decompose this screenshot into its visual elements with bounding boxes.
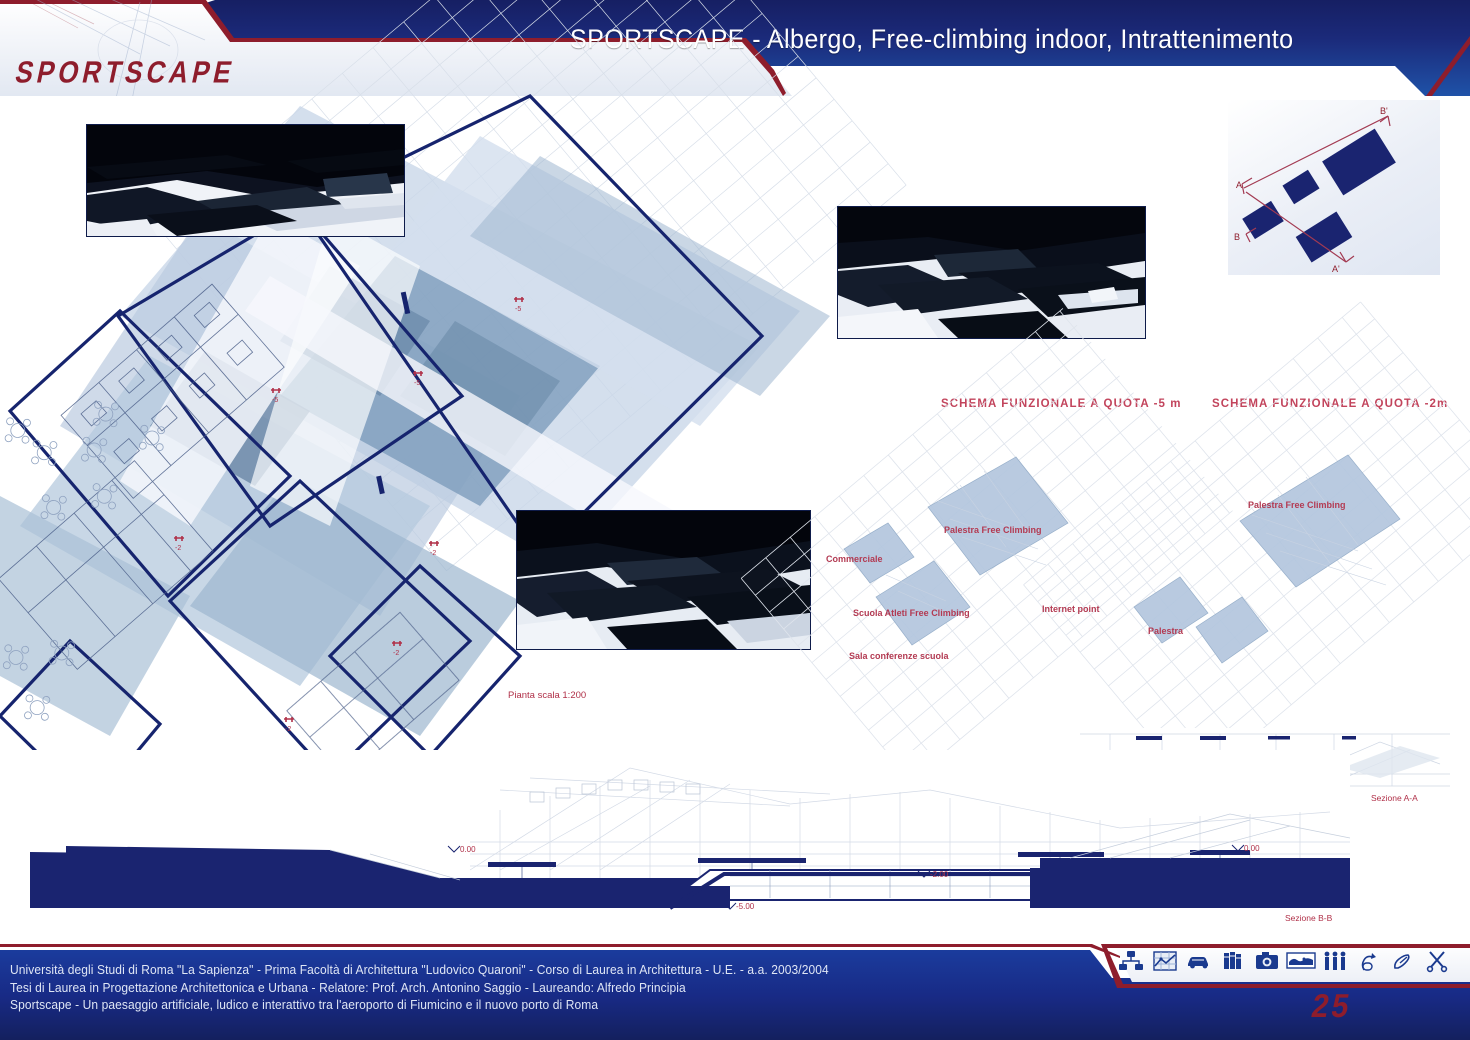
board-footer: Università degli Studi di Roma "La Sapie…: [0, 944, 1470, 1040]
schema2-label-palestra-free-climbing: Palestra Free Climbing: [1248, 500, 1346, 510]
svg-text:-2: -2: [175, 545, 181, 552]
schema2-block-palestra: [1196, 597, 1268, 663]
section-a-a-label: Sezione A-A: [1371, 793, 1418, 803]
schema-block-scuola: [876, 561, 970, 645]
plan-scale-label: Pianta scala 1:200: [508, 690, 586, 701]
section-ground-band: [30, 846, 1350, 908]
presentation-board: SPORTSCAPE SPORTSCAPE - Albergo, Free-cl…: [0, 0, 1470, 1040]
svg-text:-5: -5: [272, 397, 278, 404]
footer-icon-bar: [1118, 948, 1449, 973]
schema-title-quota-5: SCHEMA FUNZIONALE A QUOTA -5 m: [941, 398, 1182, 410]
key-orientation-diagram: A A' B B': [1228, 100, 1440, 275]
plan-level-marker: -2: [173, 535, 185, 553]
network-icon[interactable]: [1118, 948, 1143, 973]
pen-icon[interactable]: [1390, 948, 1415, 973]
render-image-2: [837, 206, 1146, 339]
schema2-label-palestra: Palestra: [1148, 626, 1183, 636]
key-label-b: B: [1234, 232, 1240, 242]
elevation-tag-minus-2: -2.00: [916, 868, 964, 883]
plan-level-marker: -2: [391, 640, 403, 658]
svg-text:-5.00: -5.00: [736, 902, 755, 911]
schema-diagram-quota-2: [1100, 415, 1450, 685]
svg-text:-5: -5: [414, 380, 420, 387]
plan-level-marker: -5: [270, 387, 282, 405]
plan-level-marker: -2: [428, 540, 440, 558]
svg-text:-2: -2: [430, 550, 436, 557]
plan-level-marker: -5: [412, 370, 424, 388]
schema-label-palestra-free-climbing: Palestra Free Climbing: [944, 525, 1042, 535]
elevation-tag-extra: 0.00: [446, 843, 486, 858]
page-number-badge: 25: [1309, 988, 1355, 1025]
board-header: SPORTSCAPE SPORTSCAPE - Albergo, Free-cl…: [0, 0, 1470, 96]
key-label-a-prime: A': [1332, 264, 1340, 274]
elevation-tag-0: 0.00: [1230, 842, 1272, 857]
schema-block-palestra: [928, 457, 1068, 575]
car-icon[interactable]: [1186, 948, 1211, 973]
section-b-b-label: Sezione B-B: [1285, 913, 1332, 923]
render-image-1: [86, 124, 405, 237]
schema-label-sala-conferenze: Sala conferenze scuola: [849, 651, 949, 661]
svg-text:-2: -2: [285, 726, 291, 733]
svg-text:0.00: 0.00: [1244, 844, 1260, 853]
footer-line-3: Sportscape - Un paesaggio artificiale, l…: [10, 997, 1028, 1015]
people-icon[interactable]: [1322, 948, 1347, 973]
render-image-3: [516, 510, 811, 650]
key-blocks: [1242, 129, 1396, 263]
schema-block-commerciale: [844, 523, 914, 583]
svg-text:-5: -5: [515, 306, 521, 313]
camera-icon[interactable]: [1254, 948, 1279, 973]
scissors-icon[interactable]: [1424, 948, 1449, 973]
key-label-a: A: [1236, 180, 1242, 190]
books-icon[interactable]: [1220, 948, 1245, 973]
svg-text:0.00: 0.00: [460, 845, 476, 854]
schema-label-scuola-atleti: Scuola Atleti Free Climbing: [853, 608, 970, 618]
plan-level-marker: -2: [283, 716, 295, 734]
plan-level-marker: -5: [513, 296, 525, 314]
footer-credits: Università degli Studi di Roma "La Sapie…: [10, 962, 1028, 1015]
footer-line-2: Tesi di Laurea in Progettazione Architet…: [10, 980, 1028, 998]
svg-text:-2: -2: [393, 650, 399, 657]
schema2-block-palestra-fc: [1240, 455, 1400, 587]
svg-text:-2.00: -2.00: [930, 870, 949, 879]
mouse-icon[interactable]: [1356, 948, 1381, 973]
elevation-tag-minus-5: -5.00: [722, 900, 770, 915]
schema-label-commerciale: Commerciale: [826, 554, 883, 564]
schema2-label-internet-point: Internet point: [1042, 604, 1100, 614]
page-title: SPORTSCAPE - Albergo, Free-climbing indo…: [570, 24, 1293, 55]
key-label-b-prime: B': [1380, 106, 1388, 116]
logo-sportscape: SPORTSCAPE: [12, 54, 239, 91]
chart-image-icon[interactable]: [1152, 948, 1177, 973]
footer-line-1: Università degli Studi di Roma "La Sapie…: [10, 962, 1028, 980]
map-icon[interactable]: [1288, 948, 1313, 973]
